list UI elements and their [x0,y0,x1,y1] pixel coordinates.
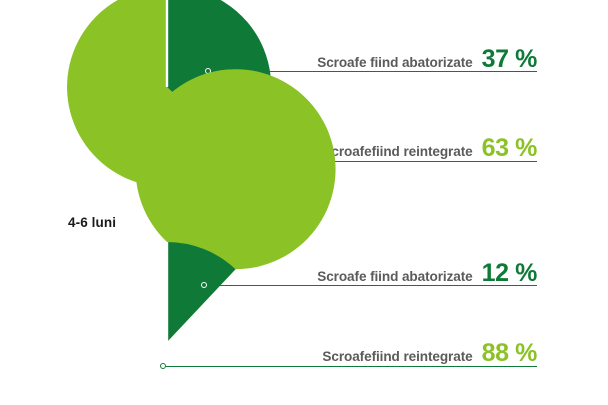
pie-chart-bottom [0,205,608,405]
callout-abatorizate-bottom: Scroafe fiind abatorizate 12 % [137,259,537,288]
pie-slice-reintegrate-bottom [136,69,336,342]
pie-chart-infographic: Scroafe fiind abatorizate 37 % Scroafefi… [0,0,608,405]
callout-label-abatorizate-top: Scroafe fiind abatorizate [317,55,472,70]
callout-value-reintegrate-bottom: 88 % [482,339,537,368]
callout-label-reintegrate-top: Scroafefiind reintegrate [322,144,472,159]
callout-value-reintegrate-top: 63 % [482,134,537,163]
callout-label-abatorizate-bottom: Scroafe fiind abatorizate [317,269,472,284]
callout-abatorizate-top: Scroafe fiind abatorizate 37 % [137,45,537,74]
callout-reintegrate-bottom: Scroafefiind reintegrate 88 % [137,339,537,368]
chart-block-bottom: Scroafe fiind abatorizate 12 % Scroafefi… [0,205,608,405]
callout-value-abatorizate-bottom: 12 % [482,259,537,288]
callout-label-reintegrate-bottom: Scroafefiind reintegrate [322,349,472,364]
callout-value-abatorizate-top: 37 % [482,45,537,74]
